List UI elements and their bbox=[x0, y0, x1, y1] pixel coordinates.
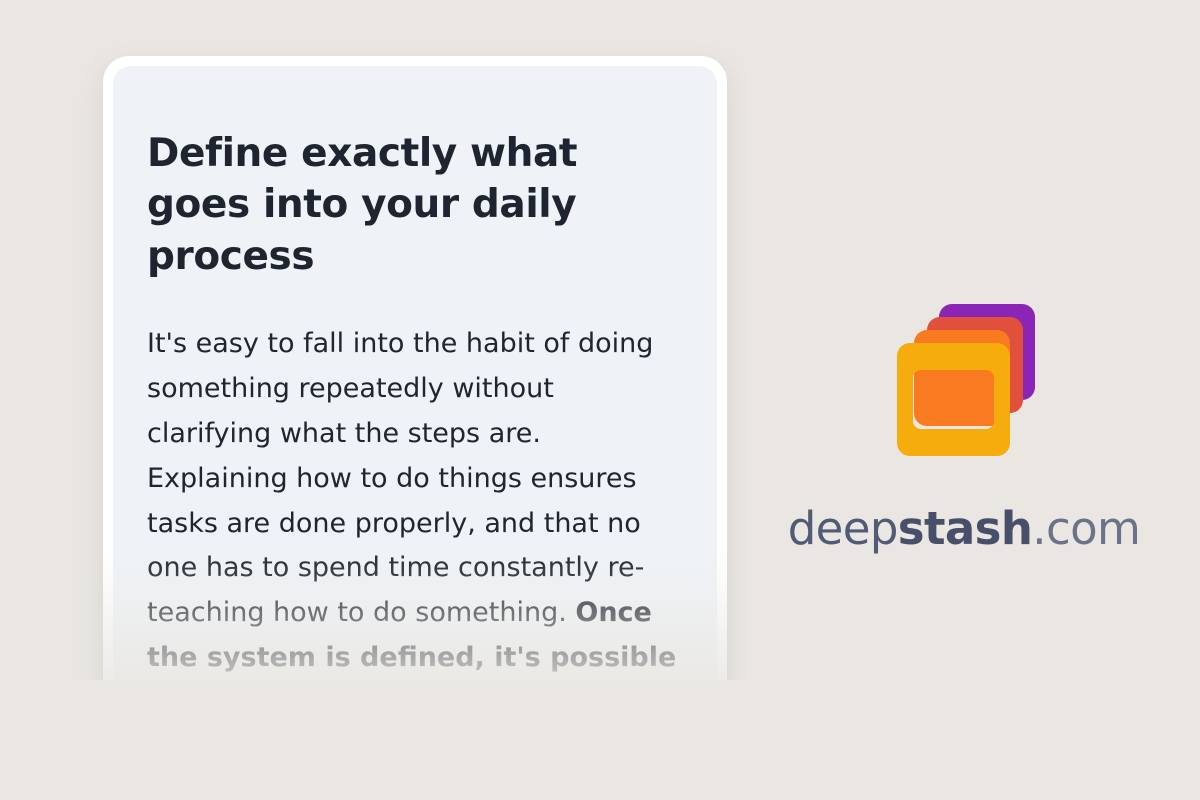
idea-body-text: It's easy to fall into the habit of doin… bbox=[147, 322, 683, 746]
deepstash-wordmark: deepstash.com bbox=[788, 502, 1141, 555]
wordmark-emphasis: stash bbox=[898, 502, 1032, 555]
wordmark-prefix: deep bbox=[788, 502, 898, 555]
brand-block: deepstash.com bbox=[760, 300, 1168, 555]
idea-paragraph-regular-run: It's easy to fall into the habit of doin… bbox=[147, 328, 653, 628]
idea-paragraph-primary: It's easy to fall into the habit of doin… bbox=[147, 322, 683, 746]
screenshot-stage: Define exactly what goes into your daily… bbox=[0, 0, 1200, 800]
idea-card-wrapper[interactable]: Define exactly what goes into your daily… bbox=[103, 56, 727, 756]
idea-card-content: Define exactly what goes into your daily… bbox=[113, 66, 717, 746]
page-title: Define exactly what goes into your daily… bbox=[147, 128, 677, 282]
deepstash-logo-icon bbox=[889, 300, 1039, 460]
wordmark-tld: .com bbox=[1032, 502, 1140, 555]
idea-card[interactable]: Define exactly what goes into your daily… bbox=[103, 56, 727, 756]
